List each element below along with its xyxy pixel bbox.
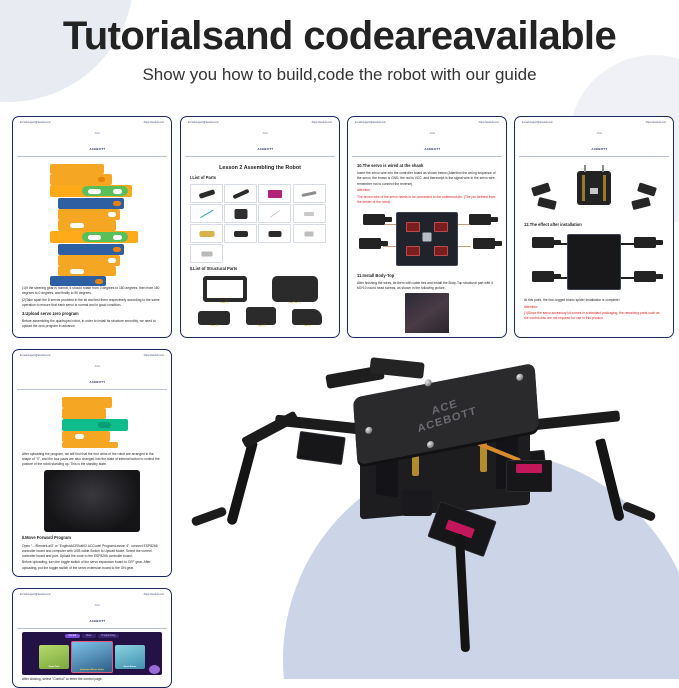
card3-section-2: 11.Install Body-Top (357, 273, 497, 279)
leg-front-left-tibia (226, 440, 258, 526)
controller-board-diagram (357, 208, 497, 270)
part-caption: Thigh (4) (246, 325, 276, 327)
scratch-program-art (32, 397, 152, 449)
card3-tail: After finishing the wires, tie them with… (357, 281, 497, 291)
app-tab-control[interactable]: Control (65, 634, 80, 638)
quadruped-robot-photo: ACE ACEBOTT (180, 352, 679, 679)
structural-part: Knee (8) (198, 311, 230, 327)
page-subtitle: Show you how to build,code the robot wit… (0, 65, 679, 85)
joint-bracket (402, 490, 432, 516)
doc-website: https://acebott.com (479, 122, 499, 124)
doc-email: E-mail:support@acebott.com (20, 355, 51, 357)
logo-main-text: ACEBOTT (89, 147, 105, 151)
part-thumb (190, 244, 223, 263)
doc-header: E-mail:support@acebott.com ACE ACEBOTT h… (17, 354, 167, 390)
card5-section: Ⅱ.Move Forward Program (22, 535, 162, 541)
logo-main-text: ACEBOTT (89, 380, 105, 384)
card4-line: At this point, the four-legged bionic sp… (524, 298, 664, 303)
plate-screw (365, 426, 372, 434)
app-card-label: Smart Tank (39, 666, 69, 668)
card2-section-1: Ⅰ.List of Parts (190, 175, 330, 181)
part-caption: Tibia (4) (292, 325, 322, 327)
card4-attention-text: (1)Since the servo accessory kit comes i… (524, 311, 664, 321)
plate-screw (424, 379, 431, 387)
app-card-smart-starter[interactable]: Smart Starter (115, 645, 145, 669)
doc-website: https://acebott.com (144, 594, 164, 596)
servo-front-left (296, 431, 345, 465)
doc-email: E-mail:support@acebott.com (188, 122, 219, 124)
part-thumb (224, 204, 257, 223)
card1-line-1: (1)If the steering gear is normal, it sh… (22, 286, 162, 296)
logo-main-text: ACEBOTT (591, 147, 607, 151)
leg-front-left-upper (241, 411, 299, 449)
logo-top-text: ACE (430, 132, 436, 135)
plate-screw (427, 440, 434, 448)
scratch-program-art (32, 164, 152, 284)
doc-website: https://acebott.com (144, 122, 164, 124)
app-card-quadruped-spider[interactable]: Quadruped Bionic Spider (71, 641, 113, 673)
part-thumb (258, 224, 291, 243)
logo-main-text: ACEBOTT (89, 619, 105, 623)
card1-line-2: (2)Take apart the 8 servos provided in t… (22, 298, 162, 308)
doc-website: https://acebott.com (144, 355, 164, 357)
robot-brand-text: ACE ACEBOTT (414, 393, 478, 436)
part-caption: Knee (8) (198, 325, 230, 327)
app-card-smart-tank[interactable]: Smart Tank (39, 645, 69, 669)
card5-body-1: Open "...\Remark.ai3" or "EnglishACEBott… (22, 544, 162, 559)
logo-main-text: ACEBOTT (257, 147, 273, 151)
tutorial-card-move-forward[interactable]: E-mail:support@acebott.com ACE ACEBOTT h… (12, 349, 172, 577)
part-thumb (293, 184, 326, 203)
tutorial-card-installation-effect[interactable]: E-mail:support@acebott.com ACE ACEBOTT h… (514, 116, 674, 338)
doc-email: E-mail:support@acebott.com (522, 122, 553, 124)
servo-bottom-left (532, 271, 554, 282)
installed-robot-photo (405, 293, 449, 333)
acebott-logo: ACE ACEBOTT (424, 122, 440, 154)
servo-bottom-right (634, 271, 656, 282)
doc-email: E-mail:support@acebott.com (355, 122, 386, 124)
foot-front-left (191, 506, 228, 527)
part-thumb (224, 184, 257, 203)
leg-front-right-tibia (595, 438, 625, 522)
servo-top-right (634, 237, 656, 248)
part-thumb (224, 224, 257, 243)
doc-email: E-mail:support@acebott.com (20, 594, 51, 596)
part-thumb (190, 204, 223, 223)
logo-top-text: ACE (263, 132, 269, 135)
doc-header: E-mail:support@acebott.com ACE ACEBOTT h… (185, 121, 335, 157)
doc-header: E-mail:support@acebott.com ACE ACEBOTT h… (352, 121, 502, 157)
part-caption: Body (1) (203, 302, 247, 304)
part-thumb (258, 184, 291, 203)
part-caption: Body Top (1) (272, 302, 318, 304)
card4-attention-label: Attention: (524, 305, 664, 310)
servo-top-left (363, 214, 385, 225)
servo-label (516, 464, 542, 473)
app-card-label: Smart Starter (115, 666, 145, 668)
card3-attention-label: Attention: (357, 188, 497, 193)
logo-top-text: ACE (95, 604, 101, 607)
servo-bottom-right (473, 238, 495, 249)
acebott-logo: ACE ACEBOTT (591, 122, 607, 154)
app-tab-programming[interactable]: Programming (98, 634, 120, 638)
card4-section: 12.The effect after installation (524, 222, 664, 228)
doc-website: https://acebott.com (646, 122, 666, 124)
servo-top-left (532, 237, 554, 248)
card3-section: 10.The servo is wired at the shank (357, 163, 497, 169)
doc-header: E-mail:support@acebott.com ACE ACEBOTT h… (17, 593, 167, 629)
planet-decoration (149, 665, 160, 674)
doc-email: E-mail:support@acebott.com (20, 122, 51, 124)
logo-top-text: ACE (95, 365, 101, 368)
part-thumb (293, 204, 326, 223)
card1-section: 3.Upload servo zero program (22, 311, 162, 317)
structural-part: Body (1) (203, 276, 247, 304)
app-screenshot: Control Store Programming Smart Tank Qua… (22, 632, 162, 675)
tutorial-card-app-control[interactable]: E-mail:support@acebott.com ACE ACEBOTT h… (12, 588, 172, 688)
acebott-logo: ACE ACEBOTT (89, 355, 105, 387)
pcb-board (396, 212, 458, 266)
tutorial-card-servo-wiring[interactable]: E-mail:support@acebott.com ACE ACEBOTT h… (347, 116, 507, 338)
tutorial-card-lesson-2[interactable]: E-mail:support@acebott.com ACE ACEBOTT h… (180, 116, 340, 338)
logo-top-text: ACE (95, 132, 101, 135)
card5-body-2: Before uploading, turn the toggle switch… (22, 560, 162, 570)
structural-part: Body Top (1) (272, 276, 318, 304)
foot-front-right (622, 501, 657, 522)
logo-top-text: ACE (597, 132, 603, 135)
banner-header: Tutorialsand codeareavailable Show you h… (0, 0, 679, 85)
card3-line: Insert the servo wire into the controlle… (357, 171, 497, 186)
structural-parts-row-2: Knee (8) Thigh (4) Tibia (4) (190, 307, 330, 327)
card6-line: After clicking, select "Control" to ente… (22, 677, 162, 682)
acebott-logo: ACE ACEBOTT (89, 122, 105, 154)
structural-part: Tibia (4) (292, 309, 322, 327)
servo-bottom-left (359, 238, 381, 249)
tutorial-card-servo-zero[interactable]: E-mail:support@acebott.com ACE ACEBOTT h… (12, 116, 172, 338)
app-card-label: Quadruped Bionic Spider (72, 669, 112, 671)
servo-top-right (469, 214, 491, 225)
card1-tail: Before assembling the quadruped robot, i… (22, 319, 162, 329)
parts-thumbnail-grid (190, 184, 330, 264)
part-thumb (258, 204, 291, 223)
page-title: Tutorialsand codeareavailable (0, 15, 679, 57)
app-tab-bar: Control Store Programming (24, 634, 160, 638)
app-device-cards: Smart Tank Quadruped Bionic Spider Smart… (24, 641, 160, 673)
part-thumb (293, 224, 326, 243)
plate-screw (516, 373, 523, 381)
robot-top-view-diagram (524, 231, 664, 295)
part-thumb (190, 184, 223, 203)
doc-header: E-mail:support@acebott.com ACE ACEBOTT h… (519, 121, 669, 157)
acebott-logo: ACE ACEBOTT (257, 122, 273, 154)
acebott-logo: ACE ACEBOTT (89, 594, 105, 626)
structural-part: Thigh (4) (246, 307, 276, 327)
robot-perspective-illustration (524, 163, 664, 219)
standby-robot-photo (44, 470, 140, 532)
doc-header: E-mail:support@acebott.com ACE ACEBOTT h… (17, 121, 167, 157)
structural-parts-row-1: Body (1) Body Top (1) (190, 276, 330, 304)
card3-attention-text: The brown wire of the servo needs to be … (357, 195, 497, 205)
card5-line: After uploading the program, we will fin… (22, 452, 162, 467)
card2-section-2: Ⅱ.List of Structural Parts (190, 266, 330, 272)
part-thumb (190, 224, 223, 243)
doc-website: https://acebott.com (312, 122, 332, 124)
app-tab-store[interactable]: Store (82, 634, 96, 638)
card2-title: Lesson 2 Assembling the Robot (190, 164, 330, 172)
logo-main-text: ACEBOTT (424, 147, 440, 151)
